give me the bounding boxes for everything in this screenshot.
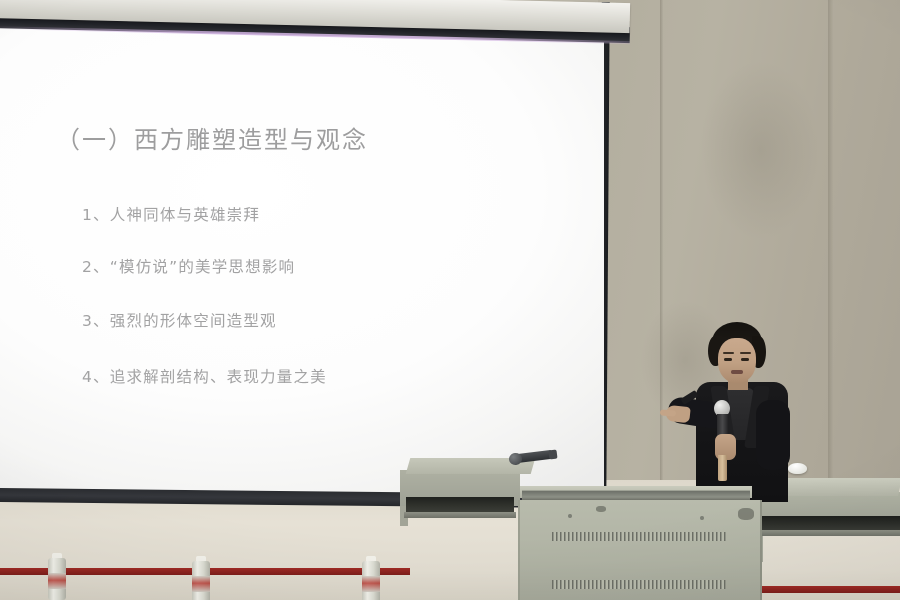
presenter-eye [724,358,732,361]
projection-screen: （一）西方雕塑造型与观念 1、人神同体与英雄崇拜 2、“模仿说”的美学思想影响 … [0,24,604,496]
presenter-mouth [731,370,743,374]
bottle-label [48,573,66,589]
presenter-speaking [660,322,810,502]
presenter-eyebrow [740,352,751,354]
slide-bullet-4: 4、追求解剖结构、表现力量之美 [82,365,327,387]
lectern-scuff [738,508,754,520]
handheld-microphone-handle [718,455,727,481]
lectern-vent [552,532,726,541]
slide-bullet-2: 2、“模仿说”的美学思想影响 [82,255,295,277]
baseboard-stripe [755,586,900,593]
lectern-scuff [596,506,606,512]
lectern-vent [552,580,726,589]
lectern-screw [568,514,572,518]
slide-bullet-1: 1、人神同体与英雄崇拜 [82,203,260,225]
presenter-eye [741,358,749,361]
bottle-label [362,576,380,592]
slide-title: （一）西方雕塑造型与观念 [56,120,368,155]
left-desk-rail [404,512,516,518]
presenter-index-finger [660,409,676,416]
presenter-eyebrow [723,352,734,354]
wall-seam [828,0,833,520]
slide-bullet-3: 3、强烈的形体空间造型观 [82,309,277,331]
bottle-label [192,576,210,592]
left-desk-opening [406,497,514,513]
right-desk-rail [758,530,900,536]
presenter-arm-right [756,400,790,470]
lectern-screw [700,516,704,520]
microphone-tail [548,450,557,460]
lecture-hall-photo: （一）西方雕塑造型与观念 1、人神同体与英雄崇拜 2、“模仿说”的美学思想影响 … [0,0,900,600]
